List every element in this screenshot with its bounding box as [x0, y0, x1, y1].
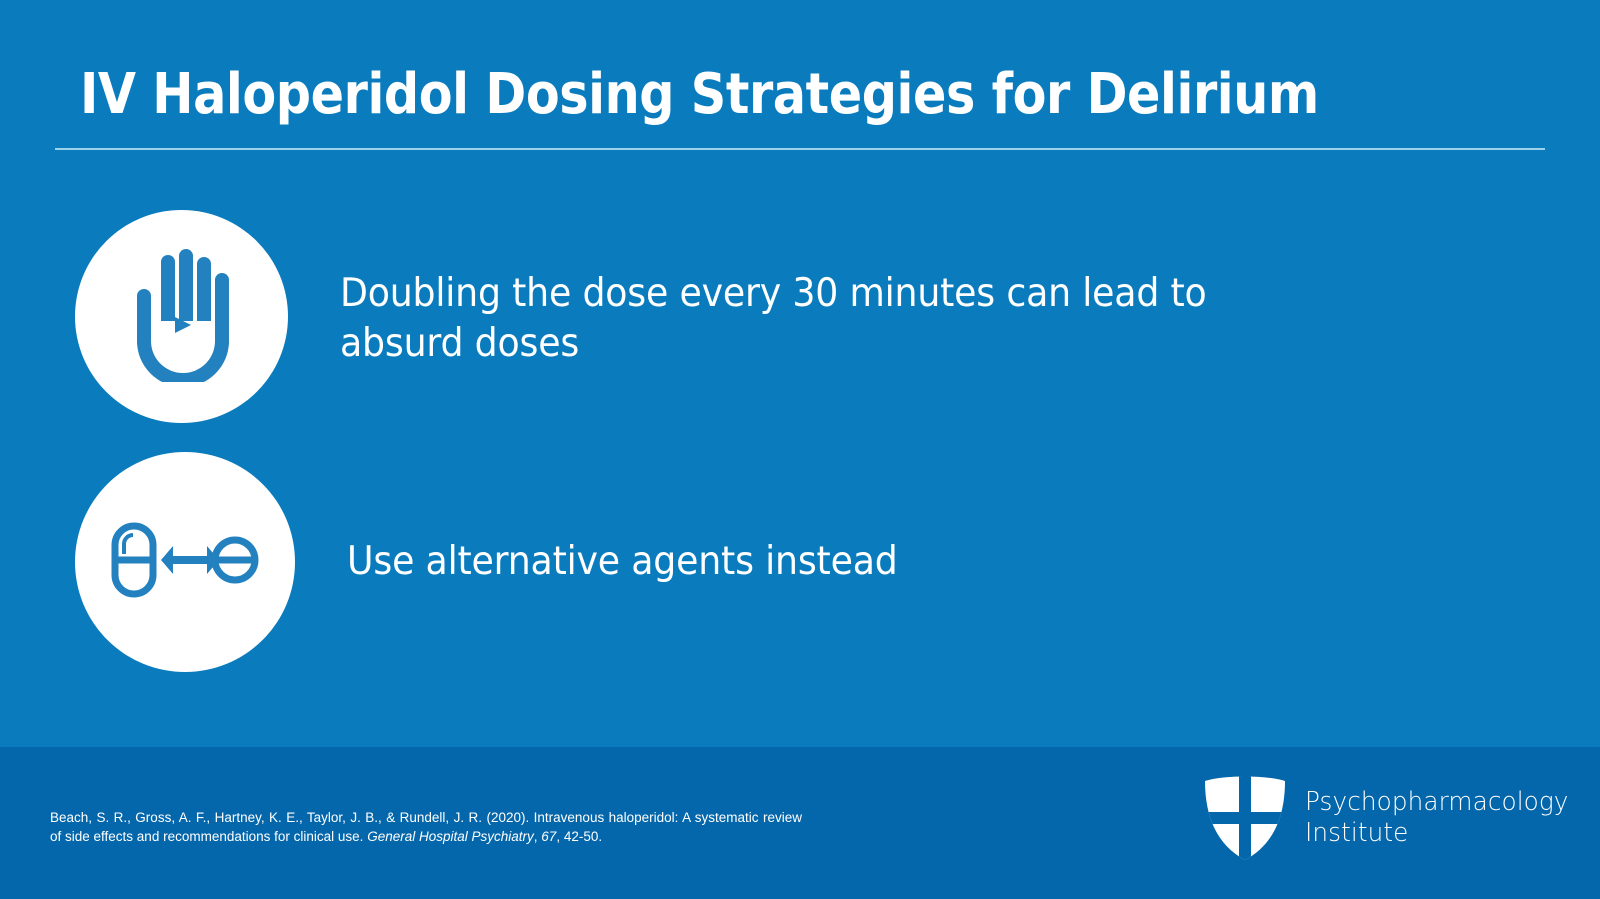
bullet-row-2: Use alternative agents instead [75, 452, 939, 672]
bullet-row-1: Doubling the dose every 30 minutes can l… [75, 210, 1340, 423]
citation-authors: Beach, S. R., Gross, A. F., Hartney, K. … [50, 810, 529, 825]
citation-comma-2: , [556, 829, 564, 844]
page-title: IV Haloperidol Dosing Strategies for Del… [80, 66, 1374, 125]
brand-logo: Psychopharmacology Institute [1203, 775, 1582, 861]
title-block: IV Haloperidol Dosing Strategies for Del… [80, 66, 1550, 125]
icon-badge-2 [75, 452, 295, 672]
bullet-text-1: Doubling the dose every 30 minutes can l… [340, 269, 1270, 369]
citation-pages: 42-50. [564, 829, 602, 844]
brand-logo-text: Psychopharmacology Institute [1305, 787, 1569, 848]
citation: Beach, S. R., Gross, A. F., Hartney, K. … [50, 808, 802, 846]
shield-cross-icon [1203, 775, 1287, 861]
pill-exchange-icon [111, 522, 259, 603]
brand-logo-line1: Psychopharmacology [1305, 787, 1569, 818]
raised-hand-stop-icon [123, 247, 241, 387]
citation-volume: 67 [541, 829, 556, 844]
citation-journal: General Hospital Psychiatry [367, 829, 534, 844]
brand-logo-line2: Institute [1305, 818, 1569, 849]
bullet-text-2: Use alternative agents instead [347, 537, 898, 587]
title-divider [55, 148, 1545, 150]
slide: IV Haloperidol Dosing Strategies for Del… [0, 0, 1600, 899]
icon-badge-1 [75, 210, 288, 423]
